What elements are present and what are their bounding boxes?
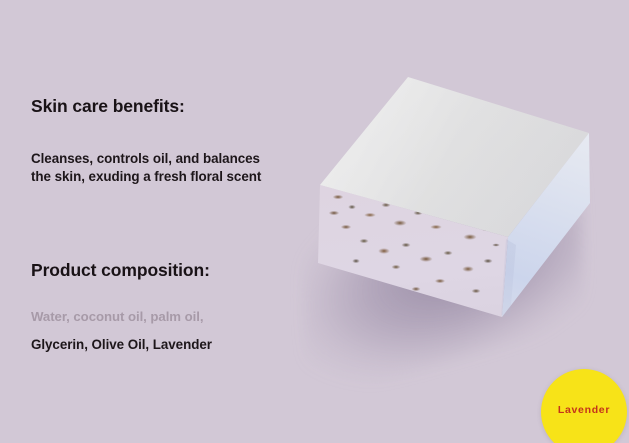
product-image [290, 55, 629, 355]
lavender-badge[interactable]: Lavender [541, 369, 627, 443]
soap-bar [290, 55, 629, 355]
product-composition-heading: Product composition: [31, 260, 316, 280]
product-info-column: Skin care benefits: Cleanses, controls o… [31, 96, 316, 353]
skin-care-benefits-heading: Skin care benefits: [31, 96, 316, 116]
ingredients-line-muted: Water, coconut oil, palm oil, [31, 308, 316, 325]
lavender-badge-label: Lavender [558, 404, 610, 416]
skin-care-benefits-line-2: the skin, exuding a fresh floral scent [31, 168, 316, 186]
skin-care-benefits-line-1: Cleanses, controls oil, and balances [31, 150, 316, 168]
product-card: Skin care benefits: Cleanses, controls o… [0, 0, 629, 443]
ingredients-line-strong: Glycerin, Olive Oil, Lavender [31, 336, 316, 353]
